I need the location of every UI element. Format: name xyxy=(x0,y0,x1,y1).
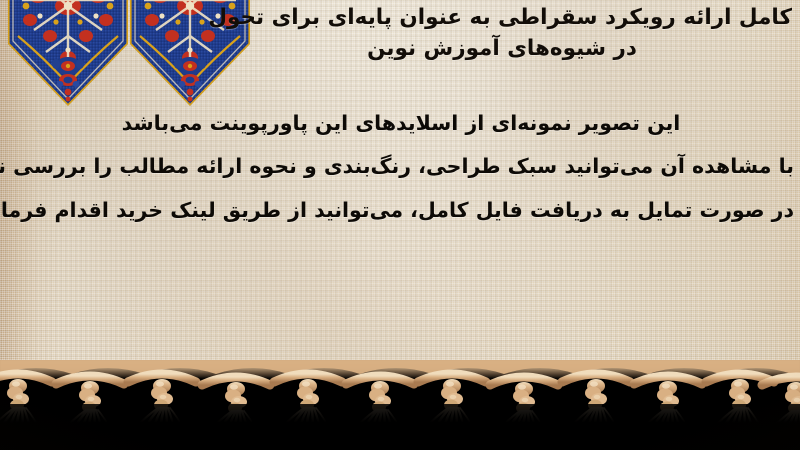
carpet-knotted-fringe xyxy=(0,360,800,450)
body-line-2: با مشاهده آن می‌توانید سبک طراحی، رنگ‌بن… xyxy=(8,153,794,180)
fringe-black-background xyxy=(0,404,800,450)
body-line-1: این تصویر نمونه‌ای از اسلایدهای این پاور… xyxy=(8,110,794,137)
body-line-3: در صورت تمایل به دریافت فایل کامل، می‌تو… xyxy=(8,197,794,224)
slide-canvas: کامل ارائه رویکرد سقراطی به عنوان پایه‌ا… xyxy=(0,0,800,450)
slide-title: کامل ارائه رویکرد سقراطی به عنوان پایه‌ا… xyxy=(212,3,792,64)
slide-text-layer: کامل ارائه رویکرد سقراطی به عنوان پایه‌ا… xyxy=(0,0,800,372)
slide-body: این تصویر نمونه‌ای از اسلایدهای این پاور… xyxy=(8,110,794,224)
title-line-2: در شیوه‌های آموزش نوین xyxy=(212,34,792,65)
title-line-1: کامل ارائه رویکرد سقراطی به عنوان پایه‌ا… xyxy=(212,3,792,34)
